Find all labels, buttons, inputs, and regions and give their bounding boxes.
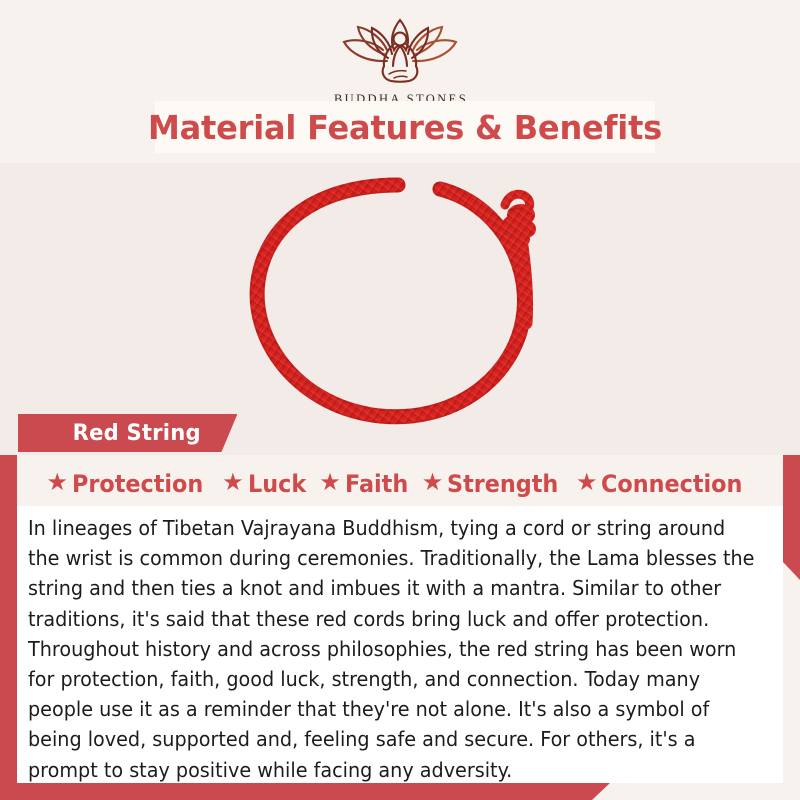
benefit-label: Faith	[345, 470, 408, 498]
benefit-item: ★ Luck	[222, 470, 310, 498]
header: BUDDHA STONES Material Features & Benefi…	[0, 0, 800, 163]
star-icon: ★	[222, 471, 244, 495]
benefit-label: Strength	[447, 470, 558, 498]
infographic-page: BUDDHA STONES Material Features & Benefi…	[0, 0, 800, 800]
decor-band-bottom	[0, 783, 610, 800]
benefit-item: ★ Faith	[319, 470, 412, 498]
star-icon: ★	[46, 471, 68, 495]
description-block: In lineages of Tibetan Vajrayana Buddhis…	[17, 506, 783, 783]
benefit-item: ★ Strength	[422, 470, 567, 498]
star-icon: ★	[422, 471, 444, 495]
benefits-list: ★ Protection ★ Luck ★ Faith ★ Strength ★…	[0, 462, 800, 506]
benefit-item: ★ Protection	[46, 470, 213, 498]
product-label-ribbon: Red String	[18, 414, 237, 452]
page-title-text: Material Features & Benefits	[148, 108, 662, 147]
star-icon: ★	[319, 471, 341, 495]
product-label-text: Red String	[73, 421, 201, 446]
benefit-label: Protection	[72, 470, 203, 498]
page-title: Material Features & Benefits	[155, 101, 655, 153]
star-icon: ★	[576, 471, 598, 495]
product-image	[0, 163, 800, 455]
benefit-label: Connection	[601, 470, 742, 498]
description-text: In lineages of Tibetan Vajrayana Buddhis…	[28, 513, 756, 785]
lotus-meditation-icon	[0, 14, 800, 91]
benefit-label: Luck	[248, 470, 306, 498]
benefit-item: ★ Connection	[576, 470, 754, 498]
brand-logo: BUDDHA STONES	[0, 14, 800, 107]
